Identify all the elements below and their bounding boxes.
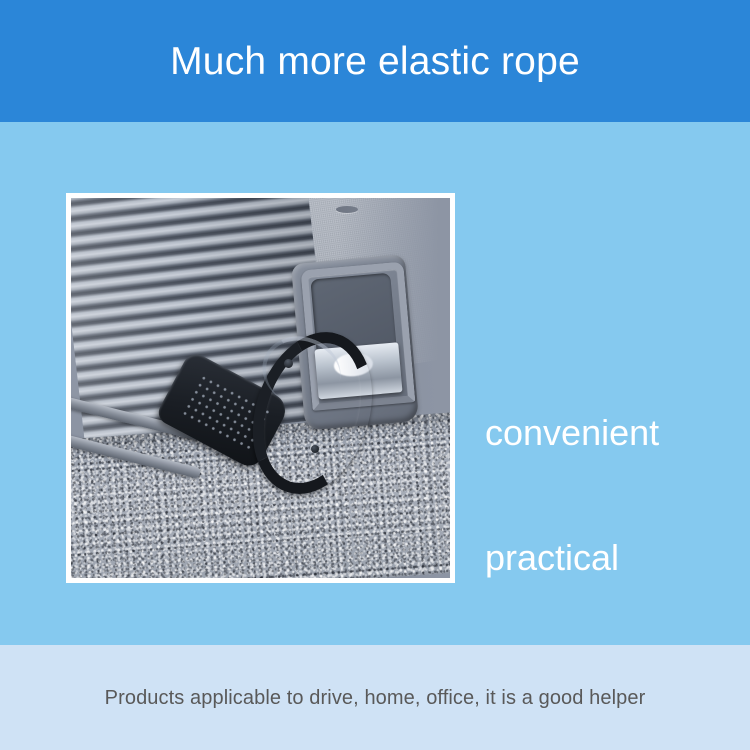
- footer-banner: Products applicable to drive, home, offi…: [0, 645, 750, 750]
- body-area: convenient practical: [0, 122, 750, 645]
- elastic-rope-hook: [170, 327, 367, 487]
- feature-label-convenient: convenient: [485, 415, 659, 451]
- product-banner: Much more elastic rope: [0, 0, 750, 750]
- header-banner: Much more elastic rope: [0, 0, 750, 122]
- footer-tagline: Products applicable to drive, home, offi…: [105, 688, 646, 708]
- feature-label-practical: practical: [485, 540, 619, 576]
- page-title: Much more elastic rope: [170, 42, 580, 81]
- product-photo: [71, 198, 450, 578]
- product-photo-frame: [66, 193, 455, 583]
